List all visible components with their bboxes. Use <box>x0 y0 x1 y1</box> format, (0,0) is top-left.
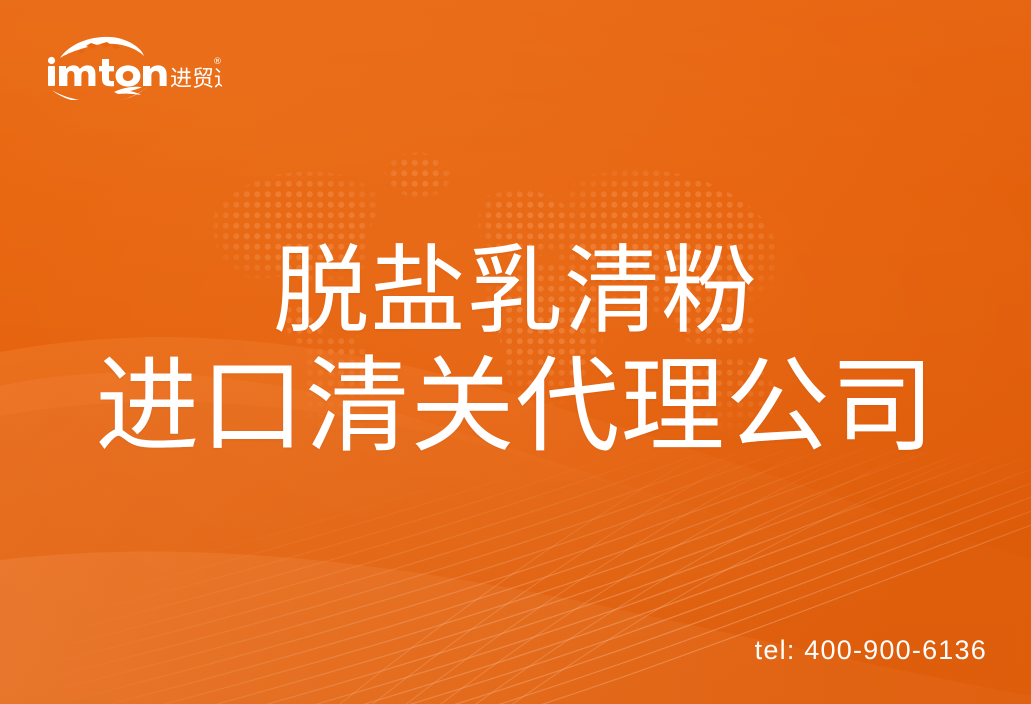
headline-line-1: 脱盐乳清粉 <box>0 236 1031 347</box>
globe-arc-icon <box>60 37 144 58</box>
headline-block: 脱盐乳清粉 进口清关代理公司 <box>0 236 1031 468</box>
logo-wordmark-imton <box>48 57 167 87</box>
swoosh-icon <box>52 87 147 100</box>
registered-trademark-icon: ® <box>213 57 222 67</box>
contact-phone[interactable]: tel: 400-900-6136 <box>755 635 987 666</box>
logo-chinese-name: 进贸通 <box>170 67 222 92</box>
headline-line-2: 进口清关代理公司 <box>0 347 1031 468</box>
promo-banner: 进贸通 ® 脱盐乳清粉 进口清关代理公司 tel: 400-900-6136 <box>0 0 1031 704</box>
company-logo[interactable]: 进贸通 ® <box>42 32 222 100</box>
